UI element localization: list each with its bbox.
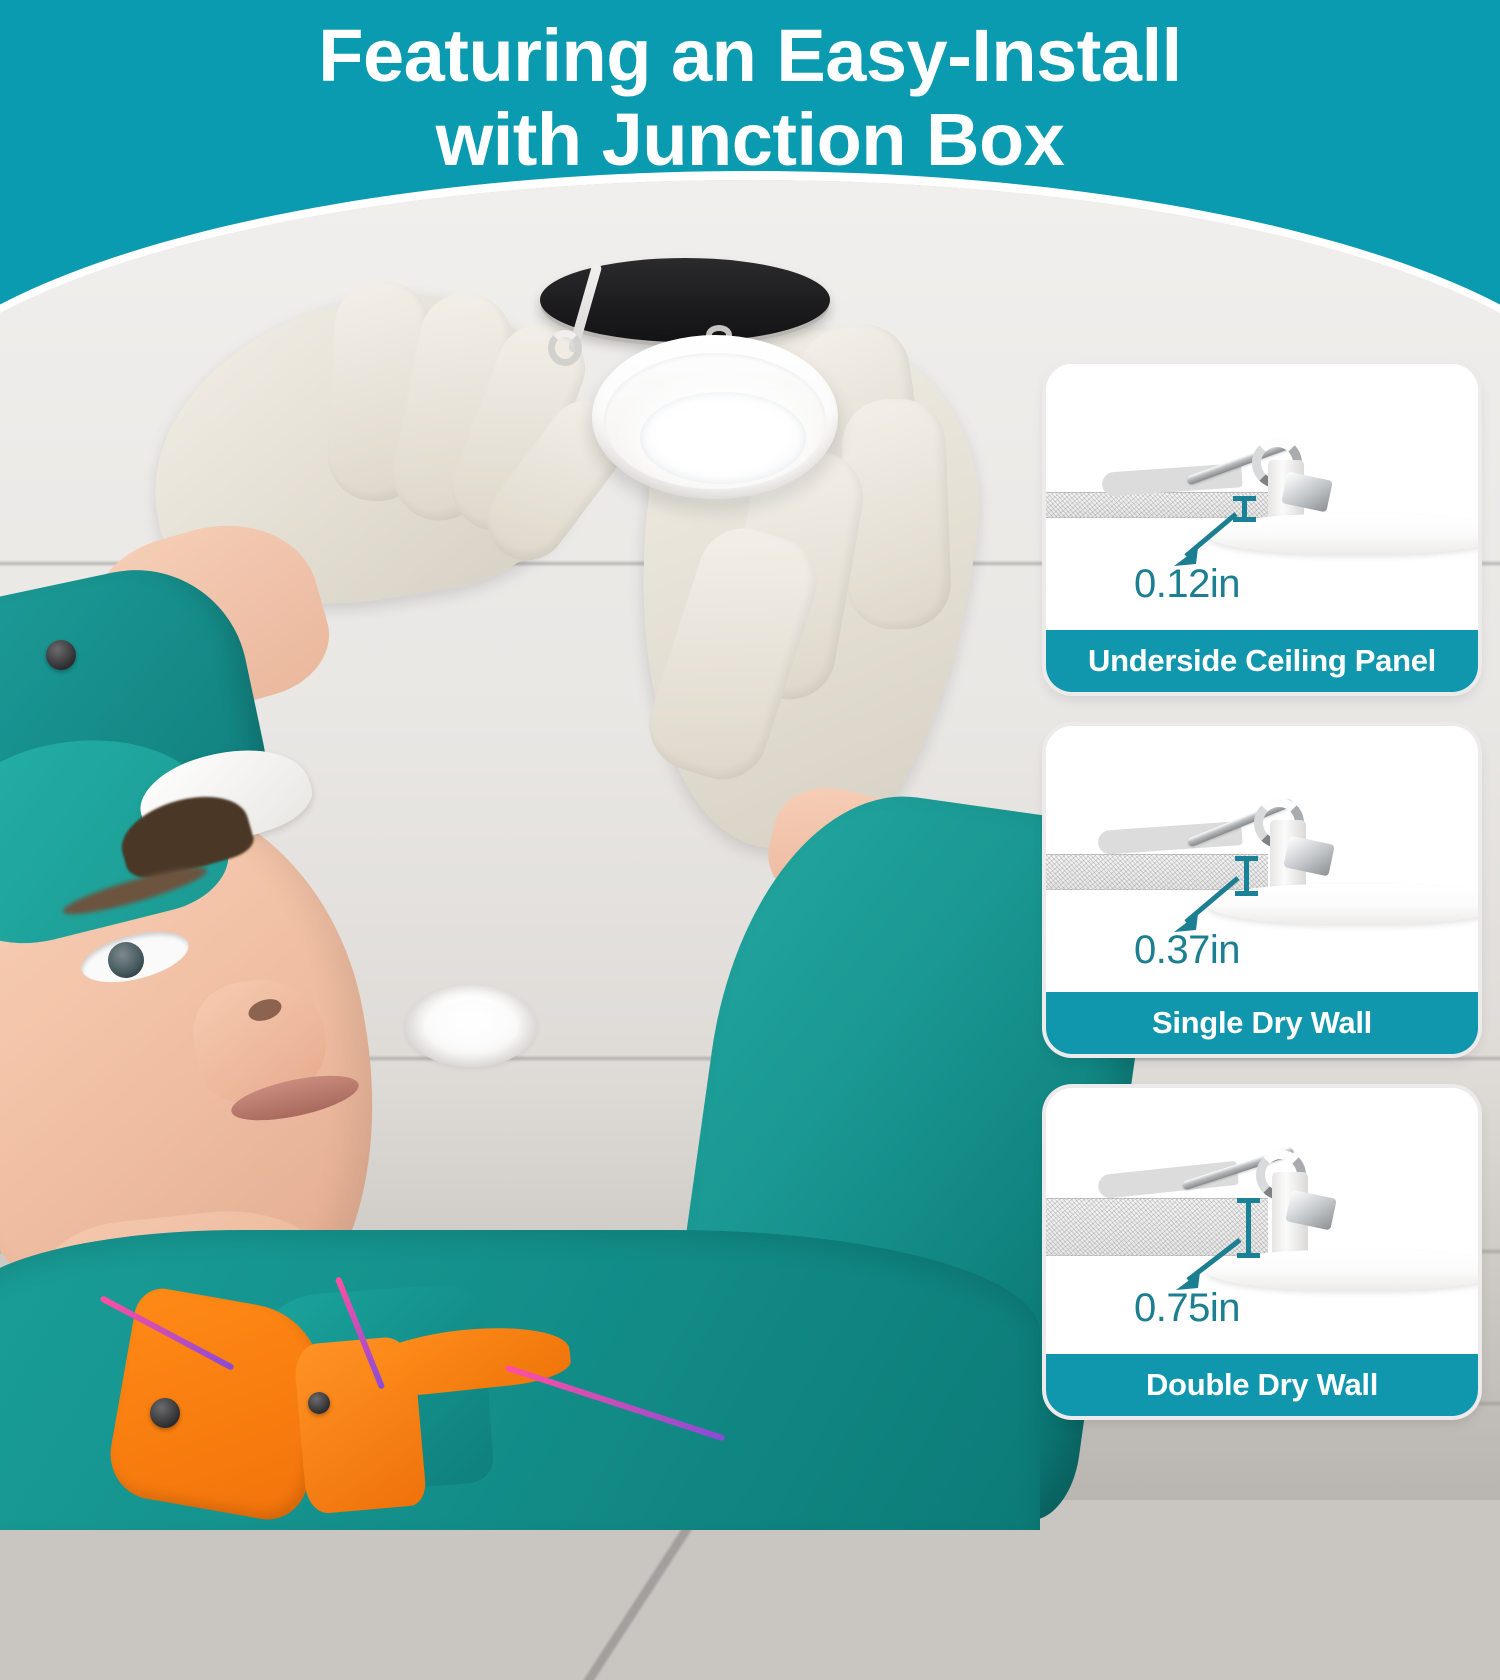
card-illustration: 0.75in [1046,1088,1478,1354]
card-label: Underside Ceiling Panel [1046,630,1478,692]
card-label: Double Dry Wall [1046,1354,1478,1416]
card-label: Single Dry Wall [1046,992,1478,1054]
dimension-arrow [1046,1088,1478,1354]
jacket-snap [150,1398,180,1428]
light-lens [640,392,806,484]
dimension-value: 0.75in [1134,1286,1240,1331]
pupil [108,942,144,978]
spring-clip-left [548,330,582,366]
card-double-dry-wall[interactable]: 0.75in Double Dry Wall [1046,1088,1478,1416]
card-illustration: 0.12in [1046,364,1478,630]
dimension-value: 0.12in [1134,562,1240,607]
dimension-arrow [1046,726,1478,992]
installed-ceiling-light [405,985,537,1067]
dimension-value: 0.37in [1134,928,1240,973]
headline: Featuring an Easy-Install with Junction … [0,14,1500,182]
card-underside-ceiling-panel[interactable]: 0.12in Underside Ceiling Panel [1046,364,1478,692]
installation-cards: 0.12in Underside Ceiling Panel 0.37in Si… [1046,364,1478,1416]
jacket-snap [46,640,76,670]
dimension-arrow [1046,364,1478,630]
headline-line-2: with Junction Box [0,98,1500,182]
card-illustration: 0.37in [1046,726,1478,992]
jacket-snap [308,1392,330,1414]
card-single-dry-wall[interactable]: 0.37in Single Dry Wall [1046,726,1478,1054]
headline-line-1: Featuring an Easy-Install [0,14,1500,98]
